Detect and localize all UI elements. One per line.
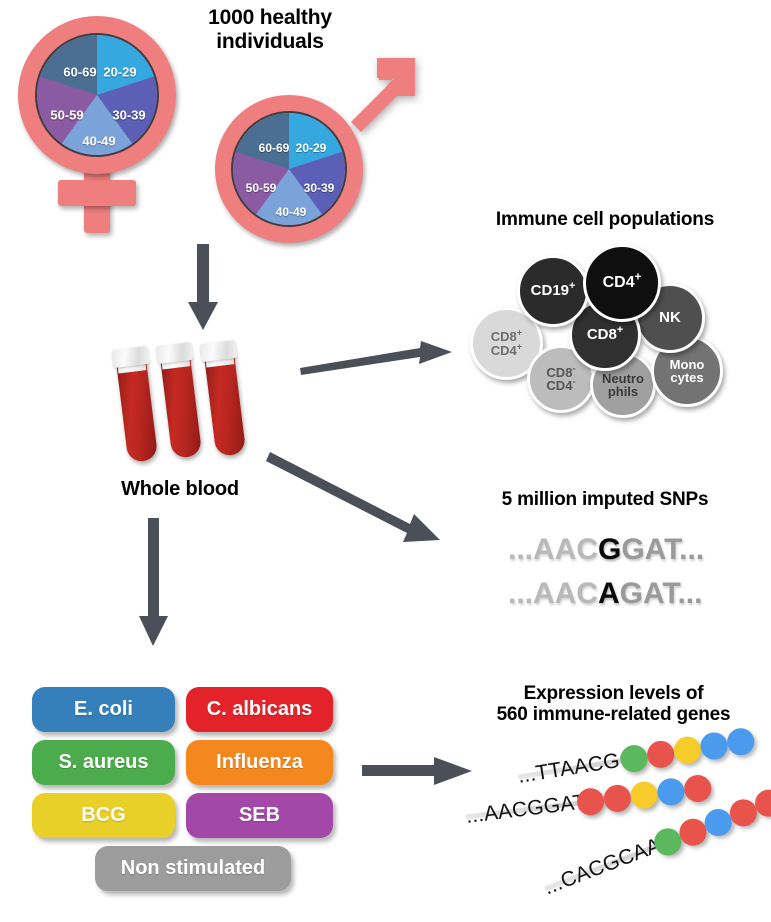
female-slice-label-60-69: 60-69 xyxy=(63,65,96,80)
male-gender-symbol: 20-29 30-39 40-49 50-59 60-69 xyxy=(205,50,420,245)
cohort-title: 1000 healthy individuals xyxy=(172,6,368,53)
blood-tubes xyxy=(110,338,270,468)
female-slice-label-30-39: 30-39 xyxy=(112,108,145,123)
immune-title: Immune cell populations xyxy=(450,209,760,230)
blood-tube xyxy=(202,336,246,457)
male-slice-label-40-49: 40-49 xyxy=(276,205,307,219)
cell-label: Neutrophils xyxy=(602,372,644,399)
female-symbol-crossbar xyxy=(58,180,136,206)
male-slice-label-60-69: 60-69 xyxy=(259,141,290,155)
arrow-stimuli-to-expression xyxy=(362,755,474,787)
cell-cd4-positive: CD4+ xyxy=(583,244,661,322)
male-slice-label-20-29: 20-29 xyxy=(296,141,327,155)
dna-bead xyxy=(672,735,703,766)
cohort-title-line1: 1000 healthy xyxy=(172,6,368,30)
arrow-blood-to-snps xyxy=(270,452,455,552)
snps-title: 5 million imputed SNPs xyxy=(455,489,755,510)
snp-prefix: ...AAC xyxy=(508,533,598,567)
dna-sequence: ...AACGGAT xyxy=(465,790,588,829)
dna-sequence: ...CACGCAA xyxy=(541,834,665,901)
cell-label: Monocytes xyxy=(670,358,705,385)
male-slice-label-30-39: 30-39 xyxy=(304,181,335,195)
female-slice-label-40-49: 40-49 xyxy=(82,134,115,149)
stimulus-s-aureus[interactable]: S. aureus xyxy=(32,740,175,785)
male-age-pie: 20-29 30-39 40-49 50-59 60-69 xyxy=(231,111,347,227)
snp-variant-a: A xyxy=(598,577,620,611)
figure-canvas: 1000 healthy individuals 20-29 30-39 40-… xyxy=(0,0,771,922)
stimulus-seb[interactable]: SEB xyxy=(186,793,333,838)
snp-suffix: GAT... xyxy=(620,577,703,611)
cell-label: NK xyxy=(659,310,681,325)
dna-bead xyxy=(699,731,730,762)
female-age-pie: 20-29 30-39 40-49 50-59 60-69 xyxy=(35,33,159,157)
cell-label: CD8-CD4- xyxy=(546,366,575,393)
snp-variant-g: G xyxy=(598,533,621,567)
stimulus-influenza[interactable]: Influenza xyxy=(186,740,333,785)
female-gender-symbol: 20-29 30-39 40-49 50-59 60-69 xyxy=(10,8,190,238)
snp-allele-row-1: ...AACGGAT... xyxy=(508,533,704,567)
blood-tube xyxy=(114,342,158,463)
cell-label: CD8+CD4+ xyxy=(491,330,522,357)
dna-bead xyxy=(683,773,713,803)
dna-bead xyxy=(645,739,676,770)
whole-blood-label: Whole blood xyxy=(80,478,280,500)
expression-title-line1: Expression levels of xyxy=(461,683,766,704)
stimulus-e-coli[interactable]: E. coli xyxy=(32,687,175,732)
stimulus-non-stimulated[interactable]: Non stimulated xyxy=(95,846,291,891)
female-slice-label-50-59: 50-59 xyxy=(50,108,83,123)
dna-bead xyxy=(725,726,756,757)
stimulus-c-albicans[interactable]: C. albicans xyxy=(186,687,333,732)
arrow-blood-to-immune xyxy=(300,330,452,378)
snp-suffix: GAT... xyxy=(621,533,704,567)
dna-bead xyxy=(629,780,659,810)
cell-cd19-positive: CD19+ xyxy=(517,255,589,327)
arrow-blood-to-stimuli xyxy=(137,518,171,648)
cell-label: CD4+ xyxy=(603,275,642,291)
blood-tube xyxy=(158,338,202,459)
snp-prefix: ...AAC xyxy=(508,577,598,611)
stimulus-bcg[interactable]: BCG xyxy=(32,793,175,838)
cell-label: CD8+ xyxy=(587,327,623,342)
cell-label: CD19+ xyxy=(531,283,576,298)
dna-bead xyxy=(602,783,632,813)
female-slice-label-20-29: 20-29 xyxy=(103,65,136,80)
expression-title-line2: 560 immune-related genes xyxy=(461,704,766,725)
arrow-cohort-to-blood xyxy=(186,244,220,332)
dna-bead xyxy=(656,777,686,807)
male-slice-label-50-59: 50-59 xyxy=(246,181,277,195)
snp-allele-row-2: ...AACAGAT... xyxy=(508,577,702,611)
expression-title: Expression levels of 560 immune-related … xyxy=(461,683,766,726)
